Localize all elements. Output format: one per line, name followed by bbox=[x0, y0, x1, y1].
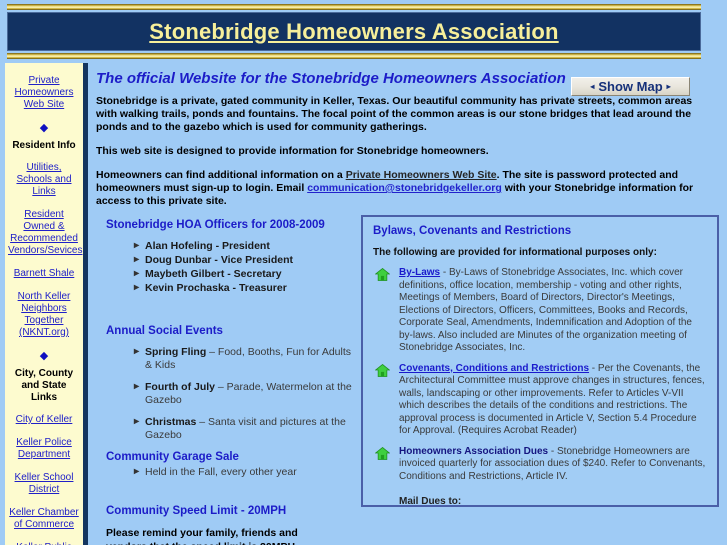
speed-limit-heading: Community Speed Limit - 20MPH bbox=[106, 505, 356, 517]
sidebar-link-11[interactable]: Keller School District bbox=[8, 472, 80, 496]
bylaws-box-title: Bylaws, Covenants and Restrictions bbox=[373, 225, 707, 237]
officer-item: Alan Hofeling - President bbox=[134, 240, 356, 253]
sidebar-link-12[interactable]: Keller Chamber of Commerce bbox=[8, 507, 80, 531]
sidebar-heading-2: Resident Info bbox=[8, 140, 80, 152]
site-banner: Stonebridge Homeowners Association bbox=[7, 4, 701, 59]
bylaws-document-list: By-Laws - By-Laws of Stonebridge Associa… bbox=[373, 267, 707, 483]
show-map-button[interactable]: ◂ Show Map ▸ bbox=[571, 77, 690, 96]
gold-divider-bottom bbox=[7, 53, 701, 59]
speed-limit-note: Please remind your family, friends and v… bbox=[106, 526, 341, 545]
page-root: Stonebridge Homeowners Association Priva… bbox=[0, 0, 727, 545]
mail-dues-label: Mail Dues to: bbox=[399, 495, 707, 507]
para3-text-a: Homeowners can find additional informati… bbox=[96, 169, 346, 181]
bylaws-box: Bylaws, Covenants and Restrictions The f… bbox=[361, 215, 719, 507]
green-house-icon bbox=[375, 447, 390, 460]
arrow-left-icon: ◂ bbox=[586, 82, 598, 91]
item-desc: Held in the Fall, every other year bbox=[145, 466, 297, 478]
sidebar-link-6[interactable]: North Keller Neighbors Together (NKNT.or… bbox=[8, 291, 80, 339]
sidebar-heading-8: City, County and State Links bbox=[8, 368, 80, 404]
green-house-icon bbox=[375, 364, 390, 377]
intro-paragraph-3: Homeowners can find additional informati… bbox=[96, 169, 727, 208]
sidebar-link-5[interactable]: Barnett Shale bbox=[8, 268, 80, 280]
sidebar-diamond-icon: ◆ bbox=[8, 350, 80, 362]
garage-sale-heading: Community Garage Sale bbox=[106, 451, 356, 463]
sidebar-nav: Private Homeowners Web Site◆Resident Inf… bbox=[5, 63, 88, 545]
event-item: Spring Fling – Food, Booths, Fun for Adu… bbox=[134, 346, 356, 372]
arrow-right-icon: ▸ bbox=[663, 82, 675, 91]
officers-list: Alan Hofeling - PresidentDoug Dunbar - V… bbox=[106, 240, 356, 295]
bylaws-doc-text: Covenants, Conditions and Restrictions -… bbox=[399, 363, 707, 438]
intro-paragraph-1: Stonebridge is a private, gated communit… bbox=[96, 95, 727, 134]
bylaws-doc-desc: - By-Laws of Stonebridge Associates, Inc… bbox=[399, 267, 692, 353]
item-title: Spring Fling bbox=[145, 346, 206, 358]
events-list: Spring Fling – Food, Booths, Fun for Adu… bbox=[106, 346, 356, 442]
officers-heading: Stonebridge HOA Officers for 2008-2009 bbox=[106, 219, 356, 231]
sidebar-link-0[interactable]: Private Homeowners Web Site bbox=[8, 75, 80, 111]
officer-item: Doug Dunbar - Vice President bbox=[134, 254, 356, 267]
green-house-icon bbox=[375, 268, 390, 281]
left-column: Stonebridge HOA Officers for 2008-2009 A… bbox=[106, 219, 356, 545]
bylaws-doc-text: Homeowners Association Dues - Stonebridg… bbox=[399, 446, 707, 484]
item-title: Christmas bbox=[145, 416, 196, 428]
garage-sale-item: Held in the Fall, every other year bbox=[134, 466, 356, 479]
sidebar-link-9[interactable]: City of Keller bbox=[8, 414, 80, 426]
events-heading: Annual Social Events bbox=[106, 325, 356, 337]
garage-sale-list: Held in the Fall, every other year bbox=[106, 466, 356, 479]
bylaws-doc-item: By-Laws - By-Laws of Stonebridge Associa… bbox=[373, 267, 707, 355]
main-content: The official Website for the Stonebridge… bbox=[96, 66, 727, 545]
sidebar-link-3[interactable]: Utilities, Schools and Links bbox=[8, 162, 80, 198]
sidebar-link-4[interactable]: Resident Owned & Recommended Vendors/Sev… bbox=[8, 209, 80, 257]
bylaws-doc-item: Homeowners Association Dues - Stonebridg… bbox=[373, 446, 707, 484]
sidebar-link-10[interactable]: Keller Police Department bbox=[8, 437, 80, 461]
event-item: Christmas – Santa visit and pictures at … bbox=[134, 416, 356, 442]
bylaws-box-subtitle: The following are provided for informati… bbox=[373, 247, 707, 258]
site-title: Stonebridge Homeowners Association bbox=[149, 19, 558, 45]
officer-item: Kevin Prochaska - Treasurer bbox=[134, 282, 356, 295]
gold-divider-top bbox=[7, 4, 701, 10]
show-map-label: Show Map bbox=[598, 79, 662, 94]
item-title: Fourth of July bbox=[145, 381, 215, 393]
bylaws-doc-link-2[interactable]: Homeowners Association Dues bbox=[399, 446, 548, 457]
intro-paragraph-2: This web site is designed to provide inf… bbox=[96, 145, 727, 158]
private-homeowners-link[interactable]: Private Homeowners Web Site bbox=[346, 169, 497, 181]
bylaws-doc-link-1[interactable]: Covenants, Conditions and Restrictions bbox=[399, 363, 589, 374]
sidebar-diamond-icon: ◆ bbox=[8, 122, 80, 134]
bylaws-doc-link-0[interactable]: By-Laws bbox=[399, 267, 440, 278]
bylaws-doc-item: Covenants, Conditions and Restrictions -… bbox=[373, 363, 707, 438]
officer-item: Maybeth Gilbert - Secretary bbox=[134, 268, 356, 281]
event-item: Fourth of July – Parade, Watermelon at t… bbox=[134, 381, 356, 407]
email-link[interactable]: communication@stonebridgekeller.org bbox=[307, 182, 502, 194]
banner-bar: Stonebridge Homeowners Association bbox=[7, 12, 701, 51]
bylaws-doc-text: By-Laws - By-Laws of Stonebridge Associa… bbox=[399, 267, 707, 355]
mail-dues-block: Mail Dues to: Stonebridge Associates, In… bbox=[399, 495, 707, 507]
